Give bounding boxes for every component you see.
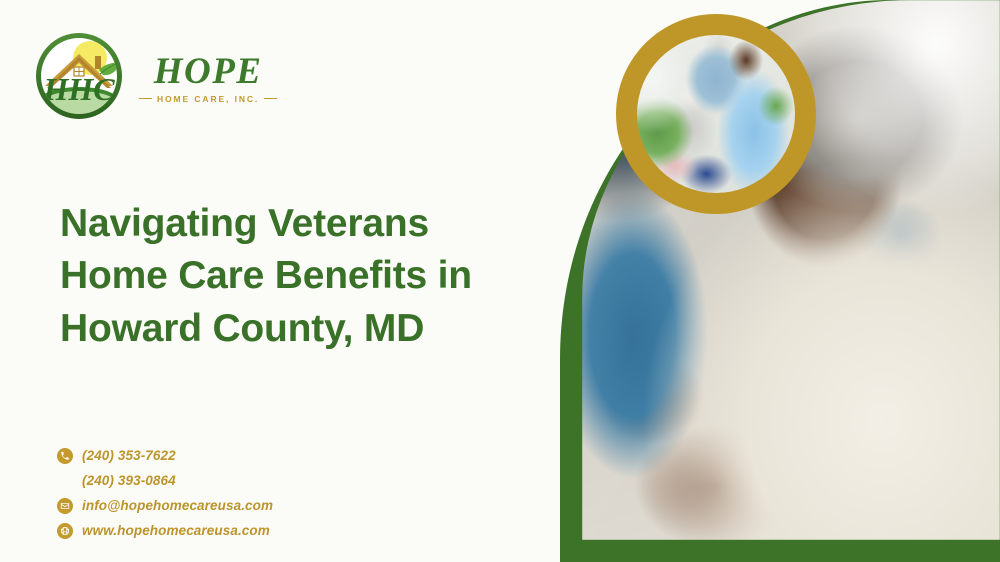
tagline-dash-right — [264, 98, 277, 100]
spacer-icon — [57, 473, 73, 489]
contact-item-website[interactable]: www.hopehomecareusa.com — [57, 518, 273, 543]
tagline-dash-left — [139, 98, 152, 100]
inset-photo-image — [637, 35, 795, 193]
envelope-icon — [57, 498, 73, 514]
contact-item-phone-secondary[interactable]: (240) 393-0864 — [57, 468, 273, 493]
contact-list: (240) 353-7622 (240) 393-0864 info@hopeh… — [57, 443, 273, 543]
frame-bottom-strip — [582, 540, 1000, 562]
brand-logo[interactable]: HHC HOPE HOME CARE, INC. — [33, 30, 277, 122]
contact-item-phone-primary[interactable]: (240) 353-7622 — [57, 443, 273, 468]
brand-wordmark: HOPE HOME CARE, INC. — [139, 49, 277, 104]
svg-text:HHC: HHC — [42, 71, 115, 107]
page-title: Navigating Veterans Home Care Benefits i… — [60, 198, 580, 355]
tagline-row: HOME CARE, INC. — [139, 94, 277, 104]
contact-item-email[interactable]: info@hopehomecareusa.com — [57, 493, 273, 518]
inset-photo-ring — [616, 14, 816, 214]
wordmark-text: HOPE — [154, 53, 263, 90]
title-line-1: Navigating Veterans — [60, 198, 580, 250]
contact-text: (240) 393-0864 — [82, 473, 176, 488]
contact-text: info@hopehomecareusa.com — [82, 498, 273, 513]
hhc-house-sun-leaf-emblem: HHC — [33, 30, 125, 122]
tagline-text: HOME CARE, INC. — [157, 94, 259, 104]
globe-icon — [57, 523, 73, 539]
media-panel — [560, 0, 1000, 562]
phone-icon — [57, 448, 73, 464]
contact-text: www.hopehomecareusa.com — [82, 523, 270, 538]
contact-text: (240) 353-7622 — [82, 448, 176, 463]
promotional-banner: HHC HOPE HOME CARE, INC. Navigating Vete… — [0, 0, 1000, 562]
content-panel: HHC HOPE HOME CARE, INC. Navigating Vete… — [0, 0, 600, 562]
title-line-2: Home Care Benefits in — [60, 250, 580, 302]
title-line-3: Howard County, MD — [60, 303, 580, 355]
